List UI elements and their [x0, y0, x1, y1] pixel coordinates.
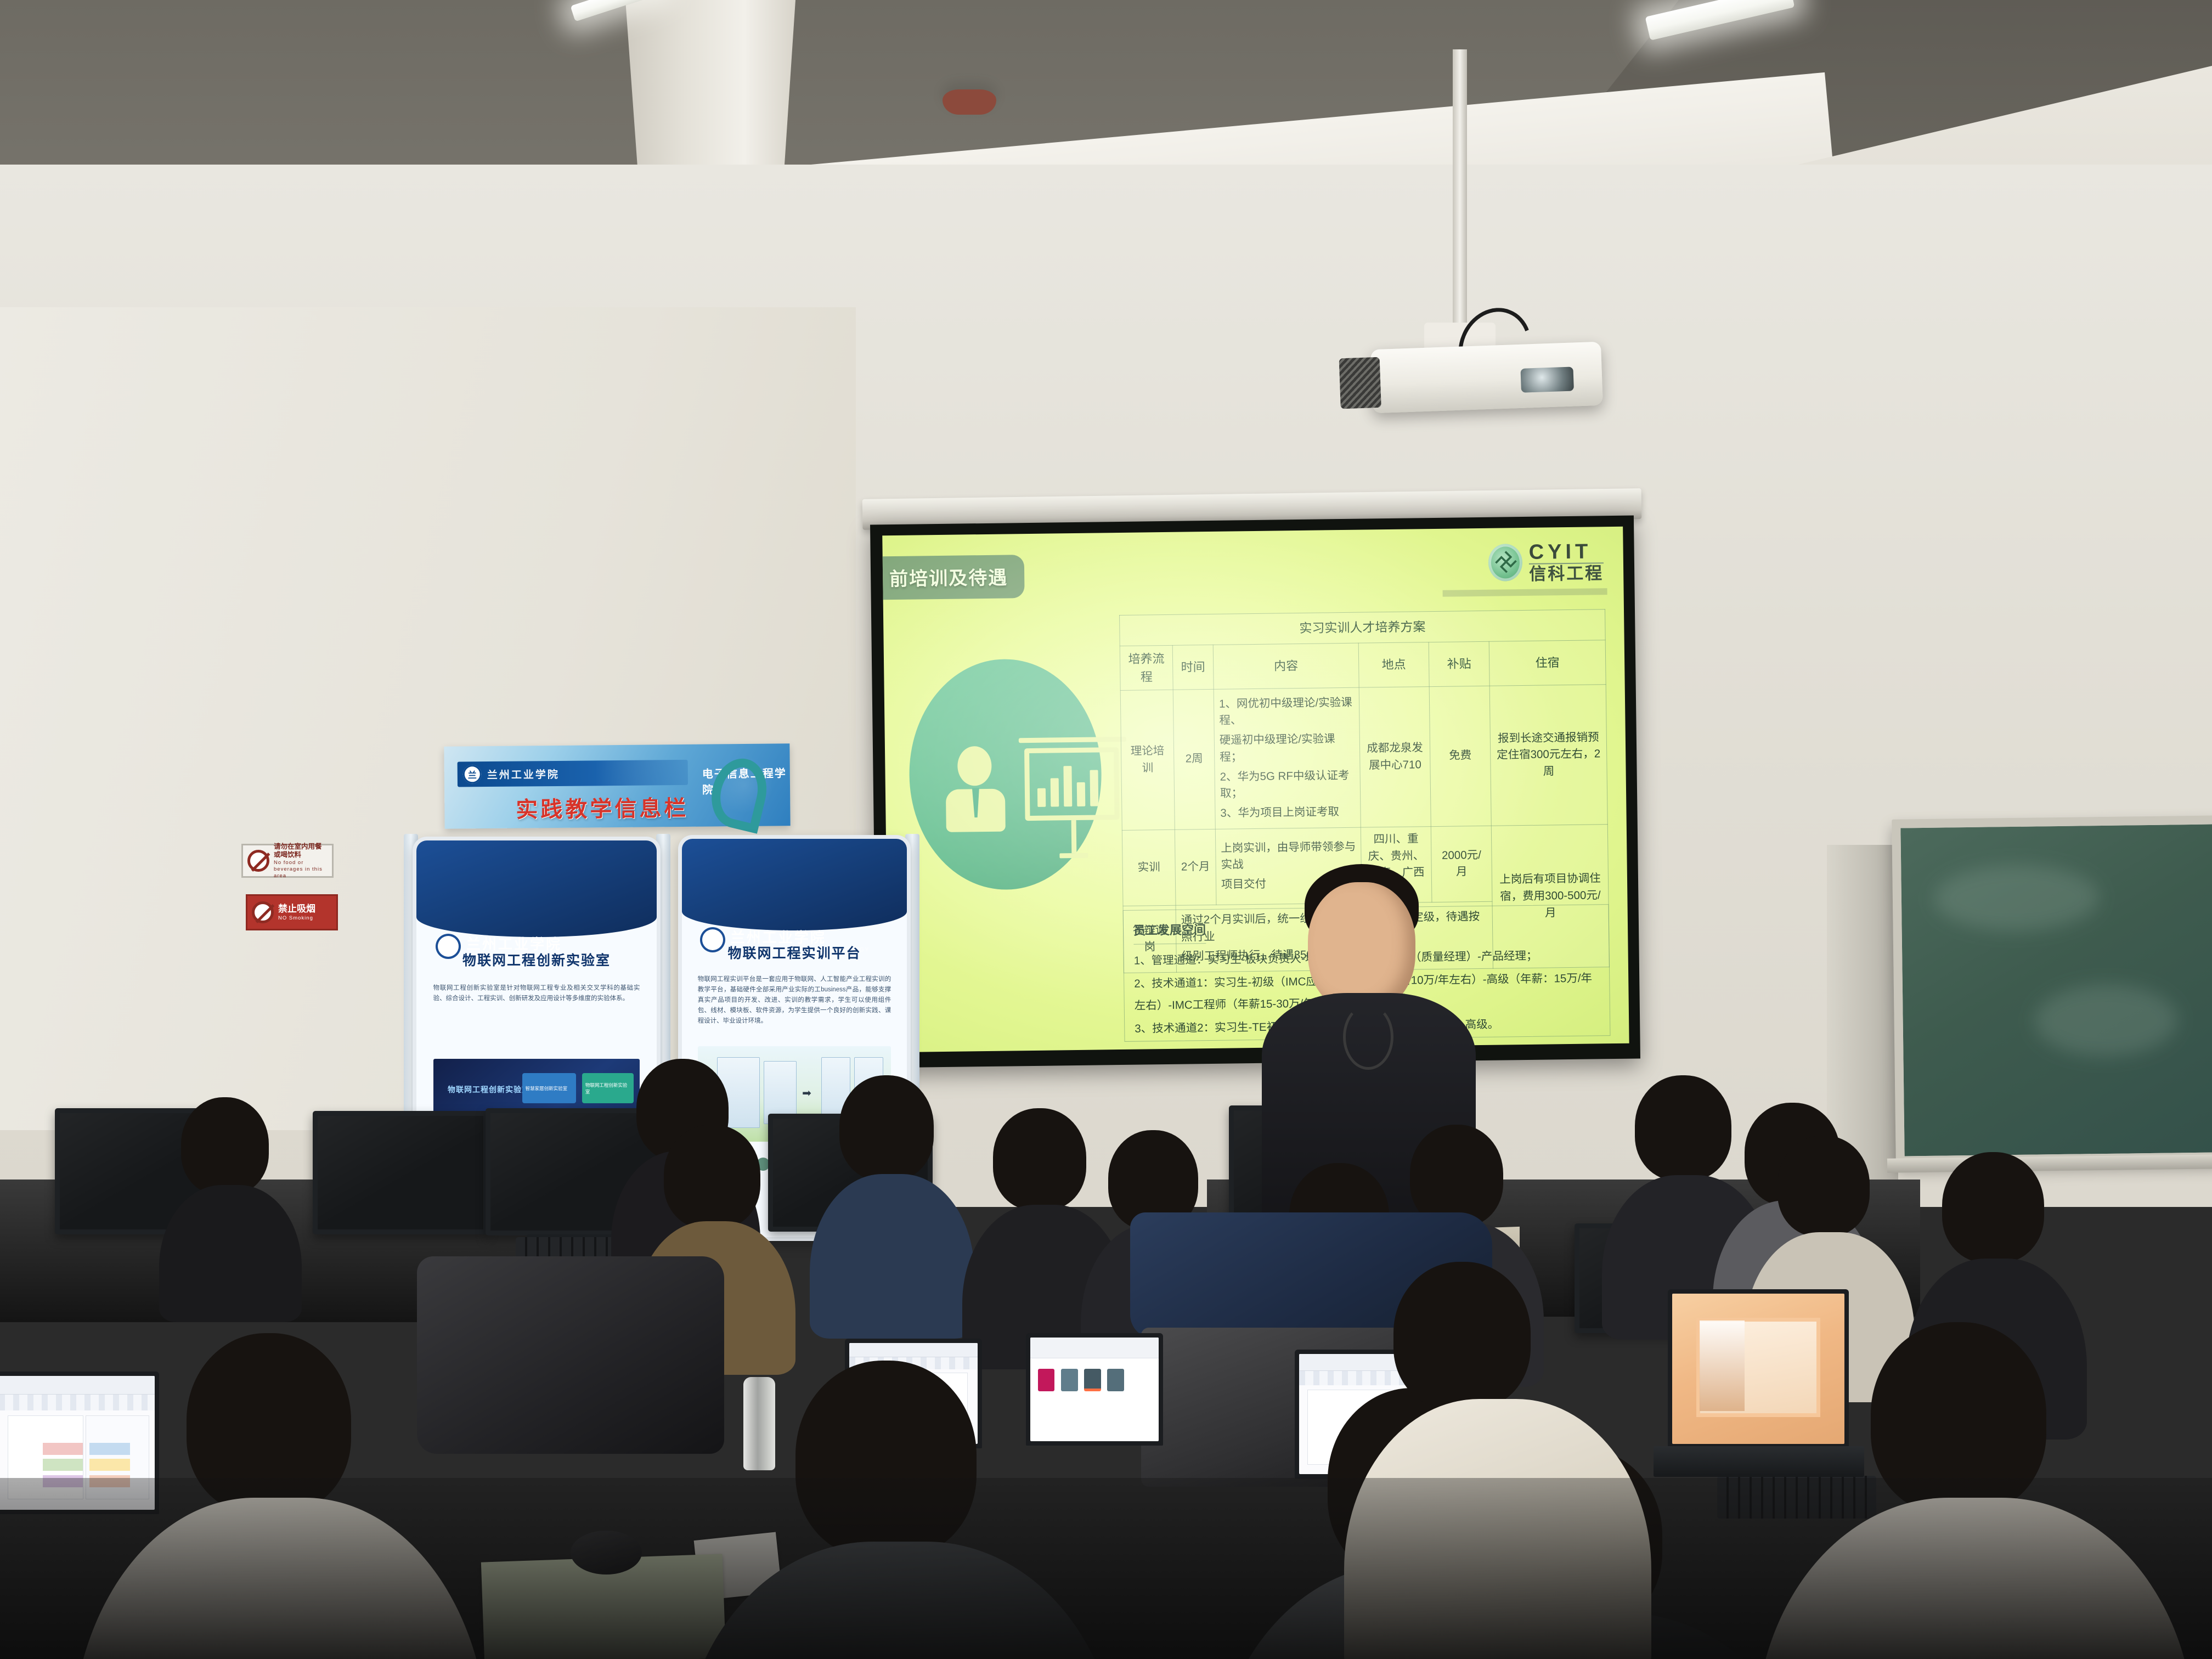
- no-smoking-icon: [252, 901, 274, 923]
- slide-content: 前培训及待遇 卍 CYIT 信科工程: [882, 527, 1629, 1052]
- banner-wave-icon: [708, 752, 780, 817]
- ceiling-projector: [1370, 342, 1603, 414]
- banner-title: 实践教学信息栏: [516, 791, 689, 824]
- cell-subsidy: 2000元/月: [1431, 826, 1492, 902]
- classroom-scene: 前培训及待遇 卍 CYIT 信科工程: [0, 0, 2212, 1659]
- no-food-sign: 请勿在室内用餐或喝饮料 No food or beverages in this…: [241, 844, 334, 878]
- no-smoking-sign: 禁止吸烟 NO Smoking: [246, 894, 338, 930]
- no-food-icon: [247, 850, 269, 872]
- sign-en: No food or beverages in this area: [274, 860, 328, 879]
- table-header-row: 培养流程 时间 内容 地点 补贴 住宿: [1120, 640, 1606, 690]
- poster-header: [682, 839, 907, 930]
- cell-stay: 报到长途交通报销预定住宿300元左右，2周: [1489, 684, 1607, 826]
- arrow-icon: ➡: [802, 1086, 811, 1100]
- water-bottle: [743, 1377, 775, 1470]
- poster-title: 物联网工程实训平台: [682, 943, 907, 962]
- content-line: 1、网优初中级理论/实验课程、: [1219, 694, 1355, 730]
- no-smoking-text: 禁止吸烟 NO Smoking: [278, 903, 315, 921]
- banner-university: 兰州工业学院: [487, 766, 560, 781]
- sign-cn: 禁止吸烟: [278, 904, 315, 914]
- cyit-logo-icon: 卍: [1488, 544, 1523, 582]
- smoke-detector-icon: [943, 89, 996, 115]
- projector-vent-icon: [1339, 357, 1381, 409]
- projector-mount-pole: [1453, 49, 1467, 329]
- table-row: 理论培训 2周 1、网优初中级理论/实验课程、 硬遥初中级理论/实验课程； 2、…: [1120, 684, 1607, 830]
- practice-teaching-banner: 兰 兰州工业学院 电子信息工程学院 实践教学信息栏: [444, 743, 790, 828]
- university-seal-icon: 兰: [463, 765, 482, 783]
- logo-underline: [1443, 588, 1607, 597]
- content-line: 硬遥初中级理论/实验课程；: [1220, 731, 1355, 766]
- logo-text-en: CYIT: [1528, 541, 1603, 563]
- chart-board-icon: [1019, 737, 1128, 859]
- cell-place: 成都龙泉发展中心710: [1359, 686, 1431, 827]
- backpack: [417, 1256, 724, 1454]
- poster-tile: 物联网工程创新实验室: [582, 1073, 634, 1103]
- th-time: 时间: [1172, 645, 1214, 690]
- laptop-screen: [1672, 1294, 1844, 1444]
- projector-lens-icon: [1520, 366, 1573, 392]
- cell-content: 1、网优初中级理论/实验课程、 硬遥初中级理论/实验课程； 2、华为5G RF中…: [1214, 687, 1361, 829]
- laptop-screen: [1030, 1338, 1159, 1441]
- cell-time: 2周: [1173, 689, 1215, 830]
- development-title: 员工发展空间: [1133, 918, 1206, 945]
- content-line: 2、华为5G RF中级认证考取；: [1220, 767, 1355, 803]
- cell-subsidy: 免费: [1429, 686, 1491, 827]
- sign-cn: 请勿在室内用餐或喝饮料: [274, 843, 322, 859]
- foreground-shadow: [0, 1478, 2212, 1659]
- content-line: 3、华为项目上岗证考取: [1220, 804, 1355, 822]
- banner-university-strip: 兰 兰州工业学院: [458, 760, 688, 787]
- cell-flow: 理论培训: [1120, 690, 1175, 830]
- lanyard: [1343, 1004, 1393, 1070]
- cell-time: 2个月: [1175, 829, 1216, 905]
- company-logo: 卍 CYIT 信科工程: [1488, 541, 1604, 583]
- poster-body: 物联网工程创新实验室是针对物联网工程专业及相关交叉学科的基础实验、综合设计、工程…: [433, 983, 640, 1004]
- cell-flow: 实训: [1122, 830, 1176, 906]
- poster-body: 物联网工程实训平台是一套应用于物联网、人工智能产业工程实训的教学平台，基础硬件全…: [698, 974, 891, 1026]
- logo-text-cn: 信科工程: [1529, 562, 1604, 583]
- presenter-figure-icon: [945, 746, 1006, 832]
- teacher-head: [1308, 882, 1415, 1012]
- poster-header: [416, 840, 657, 937]
- green-chalkboard: [1892, 815, 2212, 1165]
- poster-tile: 智慧家居创新实验室: [522, 1073, 576, 1103]
- poster-graphic-title: 物联网工程创新实验室: [448, 1085, 530, 1095]
- sign-en: NO Smoking: [278, 915, 315, 922]
- desktop-monitor: [313, 1111, 488, 1234]
- projection-screen: 前培训及待遇 卍 CYIT 信科工程: [870, 516, 1640, 1068]
- th-subsidy: 补贴: [1429, 641, 1489, 686]
- th-place: 地点: [1358, 642, 1429, 687]
- poster-title: 物联网工程创新实验室: [416, 950, 657, 969]
- th-flow: 培养流程: [1120, 645, 1173, 690]
- no-food-text: 请勿在室内用餐或喝饮料 No food or beverages in this…: [274, 843, 328, 879]
- th-content: 内容: [1213, 643, 1359, 689]
- th-stay: 住宿: [1489, 640, 1606, 686]
- slide-title-chip: 前培训及待遇: [882, 555, 1024, 600]
